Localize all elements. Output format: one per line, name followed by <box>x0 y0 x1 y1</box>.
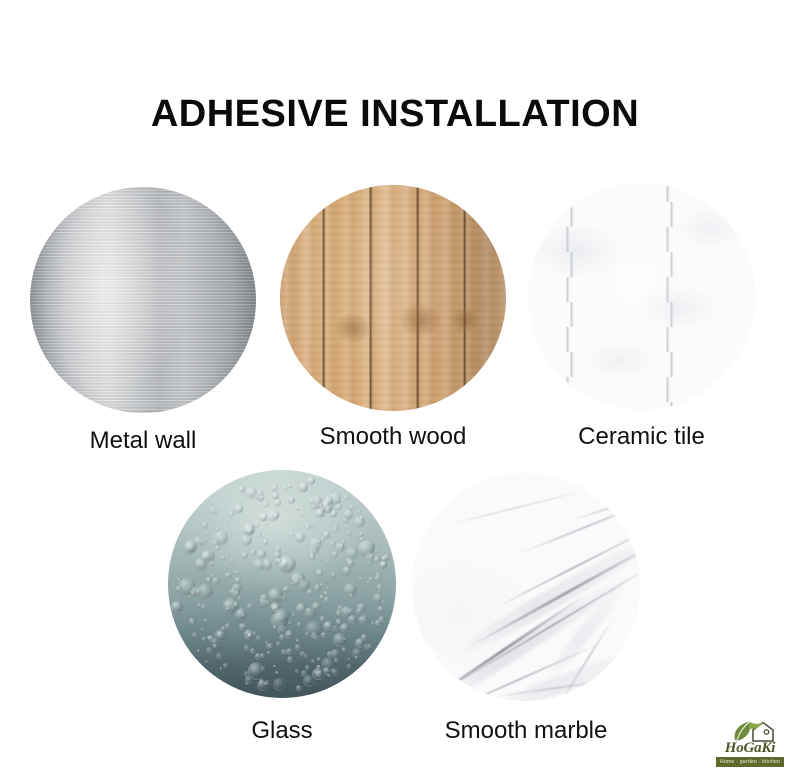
surface-swatch-smooth-marble <box>412 473 640 701</box>
water-droplet <box>221 626 226 631</box>
water-droplet <box>206 532 209 535</box>
water-droplet <box>359 532 363 536</box>
water-droplet <box>273 665 276 668</box>
metal-sheen-overlay <box>30 187 256 413</box>
surface-swatch-smooth-wood <box>280 185 506 411</box>
water-droplet <box>331 572 335 576</box>
water-droplet <box>192 621 195 624</box>
water-droplet <box>326 587 329 590</box>
page-title: ADHESIVE INSTALLATION <box>0 95 790 133</box>
water-droplet <box>285 630 294 639</box>
water-droplet <box>208 635 215 642</box>
water-droplet <box>183 542 195 554</box>
surface-label-ceramic-tile: Ceramic tile <box>528 425 755 449</box>
water-droplet <box>354 517 365 528</box>
water-droplet <box>305 524 310 529</box>
water-droplet <box>247 603 253 609</box>
water-droplet <box>305 665 310 670</box>
water-droplet <box>320 583 323 586</box>
water-droplet <box>324 596 331 603</box>
water-droplet <box>212 510 217 515</box>
water-droplet <box>216 528 219 531</box>
water-droplet <box>373 593 384 604</box>
logo-wordmark: HoGaKi <box>714 741 786 756</box>
water-droplet <box>295 669 299 673</box>
brand-logo: HoGaKi Home · garden · kitchen <box>714 719 786 769</box>
wood-shading-overlay <box>280 185 506 411</box>
water-droplet <box>221 556 225 560</box>
water-droplet <box>231 588 235 592</box>
water-droplet <box>337 499 340 502</box>
water-droplet <box>217 631 224 638</box>
water-droplet <box>349 593 353 597</box>
water-droplet <box>311 523 314 526</box>
water-droplet <box>352 648 363 659</box>
water-droplet <box>295 644 301 650</box>
water-droplet <box>382 557 385 560</box>
water-droplet <box>327 651 333 657</box>
water-droplet <box>317 657 321 661</box>
water-droplet <box>262 559 273 570</box>
water-droplet <box>263 539 268 544</box>
water-droplet <box>273 678 286 691</box>
water-droplet <box>307 477 314 484</box>
water-droplet <box>310 555 315 560</box>
logo-tagline: Home · garden · kitchen <box>716 757 784 767</box>
surface-label-glass: Glass <box>168 719 396 743</box>
water-droplet <box>344 495 349 500</box>
water-droplet <box>273 513 278 518</box>
surface-swatch-metal-wall <box>30 187 256 413</box>
water-droplet <box>264 682 268 686</box>
water-droplet <box>347 531 350 534</box>
poster-canvas: ADHESIVE INSTALLATION Metal wall Smooth … <box>0 0 790 772</box>
water-droplet <box>239 486 245 492</box>
water-droplet <box>234 504 243 513</box>
water-droplet <box>245 535 248 538</box>
water-droplet <box>260 599 263 602</box>
water-droplet <box>223 598 239 614</box>
water-droplet <box>263 501 269 507</box>
water-droplet <box>340 623 350 633</box>
water-droplet <box>288 483 292 487</box>
water-droplet <box>229 511 234 516</box>
water-droplet <box>245 682 248 685</box>
water-droplet <box>321 632 327 638</box>
water-droplet <box>360 537 364 541</box>
water-droplet <box>220 667 223 670</box>
water-droplet <box>287 656 294 663</box>
surface-swatch-glass <box>168 470 396 698</box>
water-droplet <box>258 494 264 500</box>
water-droplet <box>288 496 295 503</box>
water-droplet <box>333 633 346 646</box>
water-droplet <box>257 533 261 537</box>
water-droplet <box>202 522 208 528</box>
water-droplet <box>364 644 370 650</box>
water-droplet <box>206 647 213 654</box>
water-droplet <box>225 623 231 629</box>
water-droplet <box>265 641 269 645</box>
water-droplet <box>335 542 345 552</box>
water-droplet <box>290 532 294 536</box>
water-droplet <box>359 615 369 625</box>
water-droplet <box>286 648 293 655</box>
water-droplet <box>197 649 200 652</box>
tile-shading-overlay <box>528 183 755 410</box>
water-droplet <box>230 558 235 563</box>
surface-label-smooth-marble: Smooth marble <box>412 719 640 743</box>
water-droplet <box>358 510 361 513</box>
water-droplet <box>260 513 267 520</box>
water-droplet <box>271 484 278 491</box>
water-droplet <box>204 618 208 622</box>
water-droplet <box>343 566 351 574</box>
water-droplet <box>317 539 321 543</box>
surface-label-smooth-wood: Smooth wood <box>280 425 506 449</box>
water-droplet <box>300 512 304 516</box>
water-droplet <box>348 615 357 624</box>
water-droplet <box>227 572 232 577</box>
water-droplet <box>344 509 354 519</box>
water-droplet <box>278 555 296 573</box>
water-droplet <box>305 632 309 636</box>
water-droplet <box>369 542 372 545</box>
water-droplet <box>359 577 362 580</box>
marble-shading-overlay <box>412 473 640 701</box>
water-droplet <box>256 635 261 640</box>
water-droplet <box>300 651 306 657</box>
water-droplet <box>314 605 317 608</box>
water-droplet <box>247 528 252 533</box>
water-droplet <box>378 616 385 623</box>
water-droplet <box>247 635 250 638</box>
water-droplet <box>257 550 265 558</box>
water-droplet <box>316 508 325 517</box>
water-droplet <box>309 498 315 504</box>
water-droplet <box>356 608 363 615</box>
water-droplet <box>334 658 339 663</box>
water-droplet <box>288 621 292 625</box>
water-droplet <box>171 601 183 613</box>
water-droplet <box>197 603 200 606</box>
surface-swatch-ceramic-tile <box>528 183 755 410</box>
water-droplet <box>242 552 248 558</box>
water-droplet <box>377 584 383 590</box>
water-droplet <box>299 482 308 491</box>
water-droplet <box>276 641 281 646</box>
water-droplet <box>283 486 287 490</box>
water-droplet <box>211 574 215 578</box>
water-droplet <box>378 606 383 611</box>
surface-label-metal-wall: Metal wall <box>30 429 256 453</box>
water-droplet <box>274 608 290 624</box>
water-droplet <box>235 570 239 574</box>
water-droplet <box>283 587 287 591</box>
